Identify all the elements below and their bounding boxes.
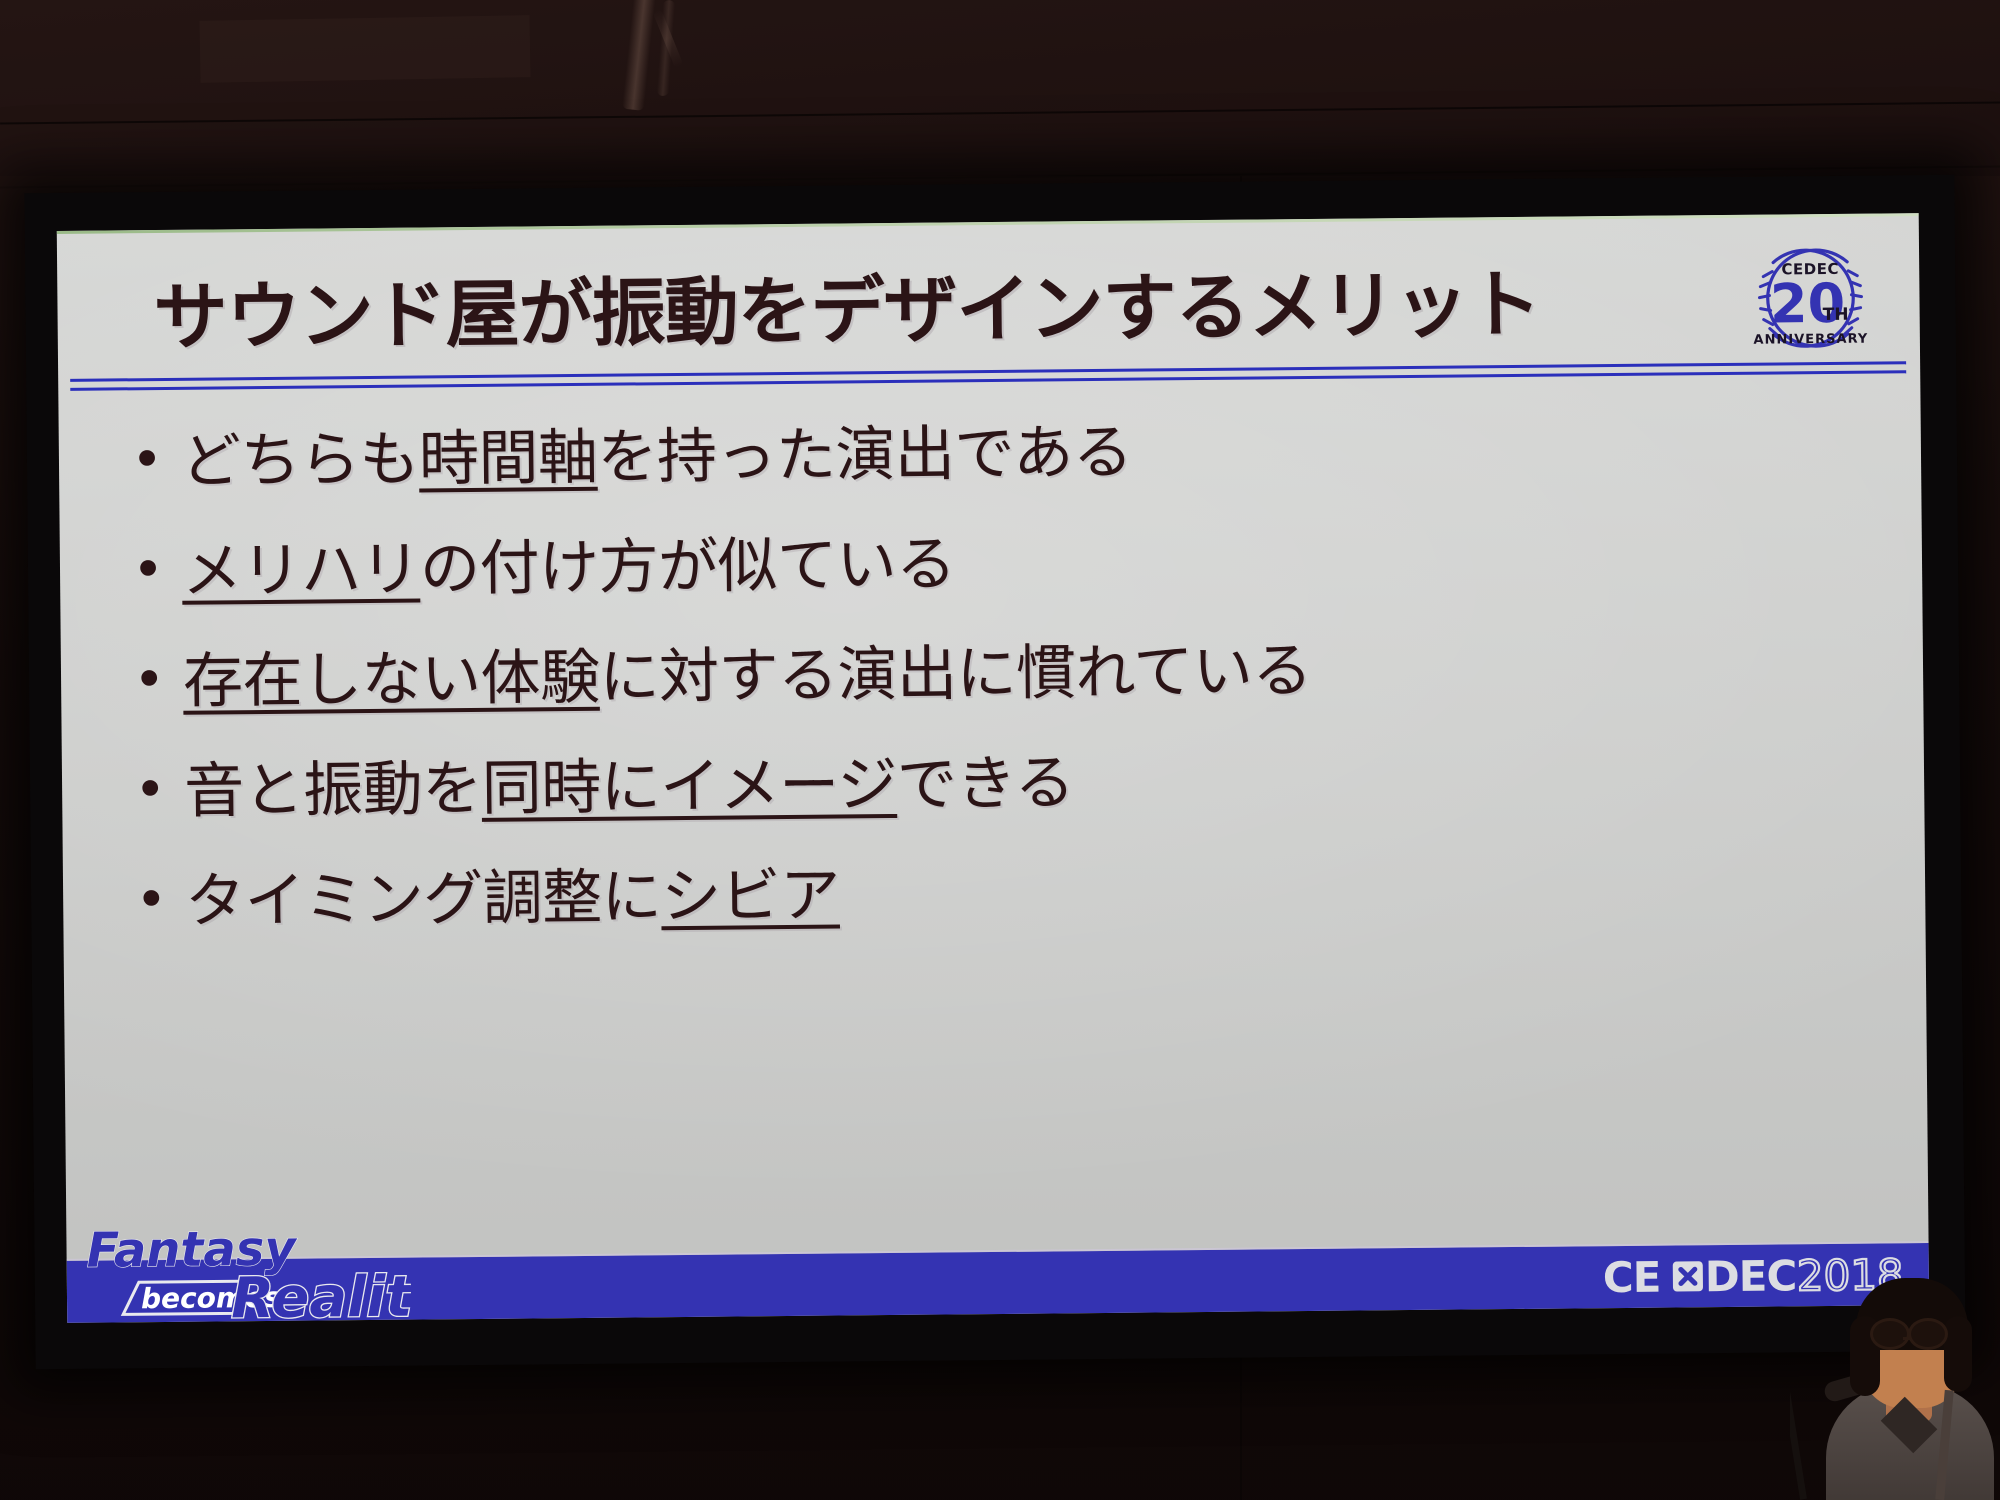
presentation-slide: サウンド屋が振動をデザインするメリット CEDEC 20 TH ANNIVERS… [57, 213, 1929, 1323]
bullet-text-tail: に対する演出に慣れている [599, 636, 1312, 713]
svg-text:DEC: DEC [1705, 1251, 1797, 1301]
ceiling-pipe [622, 0, 656, 111]
projection-screen-bezel: サウンド屋が振動をデザインするメリット CEDEC 20 TH ANNIVERS… [24, 175, 1965, 1369]
slide-top-edge-glow [57, 213, 1919, 234]
bullet-marker: • [137, 416, 182, 500]
svg-text:CE: CE [1603, 1253, 1661, 1303]
microphone-stand [1790, 1372, 1807, 1500]
bullet-text-tail: できる [897, 748, 1075, 820]
svg-text:TH: TH [1823, 305, 1849, 325]
bullet-text-plain: タイミング調整に [185, 862, 662, 937]
title-divider [70, 361, 1906, 393]
cedec-20th-anniversary-logo: CEDEC 20 TH ANNIVERSARY [1749, 240, 1872, 357]
bullet-text-emphasis: 存在しない体験 [183, 643, 600, 717]
bullet-text-tail: を持った演出である [597, 418, 1133, 493]
fantasy-becomes-reality-logo: Fantasy becomes Reality [80, 1212, 411, 1323]
list-item: • メリハリの付け方が似ている [138, 509, 1883, 622]
bullet-text-emphasis: 同時にイメージ [481, 750, 897, 824]
bullet-text: どちらも時間軸を持った演出である [181, 407, 1133, 508]
glasses-right-lens [1908, 1318, 1948, 1350]
presenter-hair-right [1944, 1316, 1972, 1392]
presenter-silhouette [1790, 1260, 2000, 1500]
bullet-marker: • [141, 856, 186, 940]
slide-title-row: サウンド屋が振動をデザインするメリット CEDEC 20 TH ANNIVERS… [153, 241, 1890, 366]
bullet-marker: • [139, 636, 184, 720]
list-item: • 存在しない体験に対する演出に慣れている [139, 619, 1884, 732]
bullet-text-emphasis: シビア [661, 860, 840, 932]
ceiling-duct [199, 15, 530, 83]
bullet-marker: • [140, 746, 185, 830]
list-item: • どちらも時間軸を持った演出である [137, 399, 1882, 512]
bullet-text: メリハリの付け方が似ている [182, 518, 956, 617]
divider-line-lower [70, 370, 1906, 391]
bullet-text-plain: どちらも [181, 425, 420, 497]
glasses-left-lens [1870, 1318, 1910, 1350]
page-title: サウンド屋が振動をデザインするメリット [153, 245, 1541, 365]
bullet-text: タイミング調整にシビア [185, 849, 840, 947]
bullet-text-emphasis: メリハリ [182, 535, 421, 607]
list-item: • 音と振動を同時にイメージできる [140, 729, 1885, 842]
svg-text:Reality: Reality [231, 1264, 412, 1323]
bullet-text: 音と振動を同時にイメージできる [184, 737, 1075, 838]
bullet-marker: • [138, 526, 183, 610]
bullet-text-tail: の付け方が似ている [420, 529, 956, 604]
svg-text:ANNIVERSARY: ANNIVERSARY [1753, 332, 1868, 348]
bullet-text: 存在しない体験に対する演出に慣れている [183, 625, 1313, 728]
ceiling-seam [0, 102, 2000, 125]
bullet-list: • どちらも時間軸を持った演出である • メリハリの付け方が似ている • 存在し… [137, 399, 1886, 966]
bullet-text-plain: 音と振動を [184, 754, 482, 827]
bullet-text-emphasis: 時間軸 [419, 423, 598, 495]
svg-text:20: 20 [1770, 272, 1846, 336]
list-item: • タイミング調整にシビア [141, 839, 1886, 952]
glasses-bridge [1903, 1337, 1911, 1340]
